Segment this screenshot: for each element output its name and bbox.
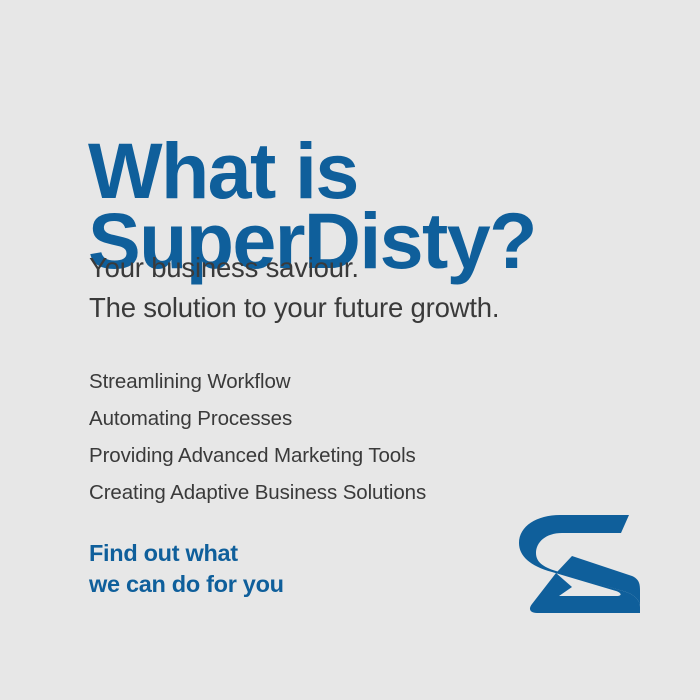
feature-list: Streamlining Workflow Automating Process… bbox=[89, 363, 629, 511]
subtitle: Your business saviour. The solution to y… bbox=[89, 248, 659, 328]
subtitle-line-1: Your business saviour. bbox=[89, 248, 659, 288]
list-item: Streamlining Workflow bbox=[89, 363, 629, 400]
promo-card: What is SuperDisty? Your business saviou… bbox=[0, 0, 700, 700]
call-to-action-link[interactable]: Find out what we can do for you bbox=[89, 538, 489, 600]
list-item: Creating Adaptive Business Solutions bbox=[89, 474, 629, 511]
superdisty-s-logo-icon bbox=[516, 512, 640, 616]
list-item: Providing Advanced Marketing Tools bbox=[89, 437, 629, 474]
list-item: Automating Processes bbox=[89, 400, 629, 437]
call-to-action-line-1: Find out what bbox=[89, 538, 489, 569]
call-to-action-line-2: we can do for you bbox=[89, 569, 489, 600]
subtitle-line-2: The solution to your future growth. bbox=[89, 288, 659, 328]
